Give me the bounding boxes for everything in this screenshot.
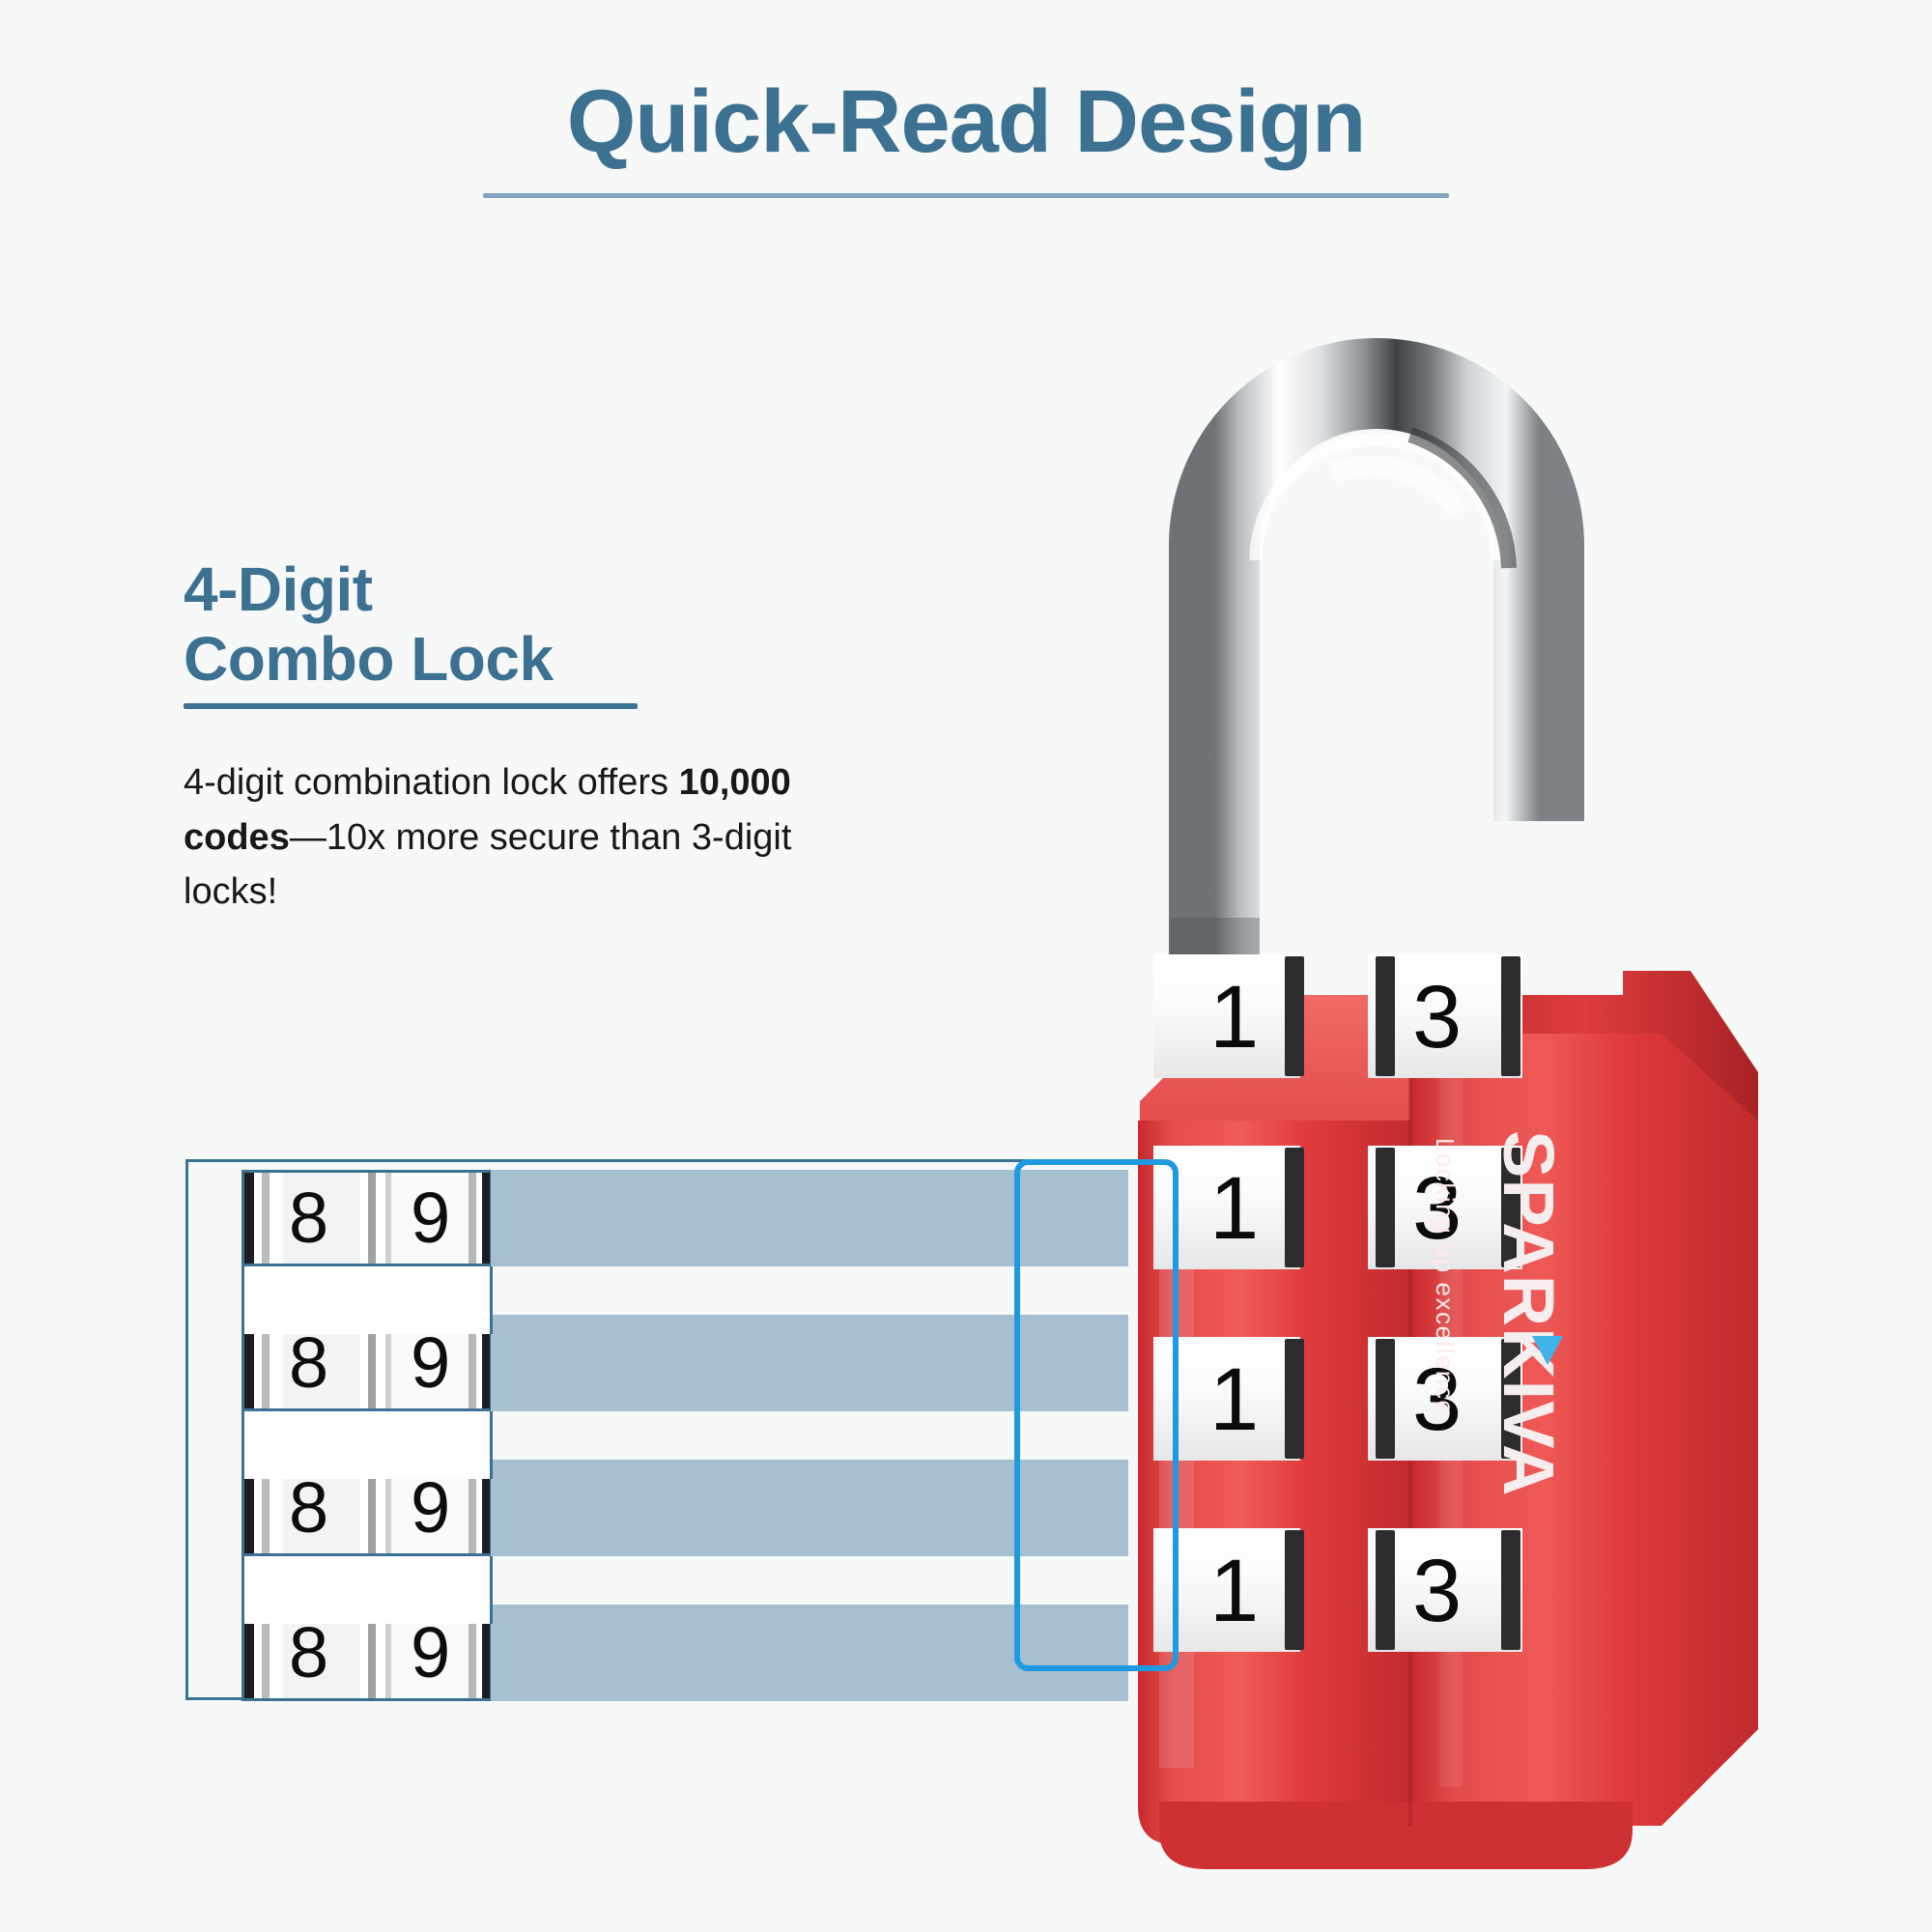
dial-digit-left-3: 1 [1209,1355,1259,1444]
callout-spacer [241,1411,493,1479]
callout-spacer [241,1266,493,1334]
dial-digit-left-1: 1 [1209,973,1259,1062]
brand-tagline: Locking up excellence [1430,1138,1460,1415]
callout-spacer [241,1556,493,1624]
feature-description-part-1: 4-digit combination lock offers [184,762,679,803]
dial-gap-3 [1300,1329,1368,1469]
magnified-digit-left: 8 [289,1327,328,1399]
dial-window-4[interactable]: 1 3 [1140,1520,1526,1661]
dial-tick-right-1 [1376,956,1395,1076]
magnified-digit-right: 9 [411,1617,450,1689]
feature-heading-line-1: 4-Digit [184,555,860,625]
dial-gap-2 [1300,1138,1368,1278]
magnified-digit-left: 8 [289,1182,328,1254]
page-title: Quick-Read Design [567,75,1366,169]
feature-heading-line-2: Combo Lock [184,625,860,695]
feature-underline [184,703,638,709]
feature-block: 4-Digit Combo Lock 4-digit combination l… [184,555,860,919]
brand-triangle-icon [1532,1336,1563,1365]
dial-window-2[interactable]: 1 3 [1140,1138,1526,1278]
dial-digit-right-1: 3 [1412,973,1462,1062]
magnified-dial-strip: 89 [241,1170,493,1266]
dial-gap-4 [1300,1520,1368,1661]
dial-digit-left-4: 1 [1209,1547,1259,1635]
dial-window-group: 1 3 1 3 1 [1140,947,1526,1662]
dial-gap-1 [1300,947,1368,1087]
magnified-digit-left: 8 [289,1617,328,1689]
magnified-digit-left: 8 [289,1472,328,1544]
dial-tick-edge-1 [1501,956,1520,1076]
dial-digit-left-2: 1 [1209,1164,1259,1253]
dial-tick-right-4 [1376,1530,1395,1650]
feature-description: 4-digit combination lock offers 10,000 c… [184,755,860,919]
title-block: Quick-Read Design [0,75,1932,169]
magnified-digit-right: 9 [411,1472,450,1544]
padlock-product-image: 1 3 1 3 1 [1024,319,1797,1884]
dial-tick-right-3 [1376,1339,1395,1459]
brand-name: SPARKIVA [1488,1130,1570,1496]
dial-window-1[interactable]: 1 3 [1140,947,1526,1087]
dial-tick-right-2 [1376,1148,1395,1267]
magnified-digit-right: 9 [411,1182,450,1254]
title-underline [483,193,1449,198]
dial-tick-edge-4 [1501,1530,1520,1650]
dial-window-3[interactable]: 1 3 [1140,1329,1526,1469]
brand-mark: SPARKIVA Locking up excellence [1488,1130,1604,1546]
dial-digit-right-4: 3 [1412,1547,1462,1635]
magnified-digit-right: 9 [411,1327,450,1399]
magnifier-callout-box: 89898989 [185,1159,1074,1700]
marketing-image-canvas: Quick-Read Design 4-Digit Combo Lock 4-d… [0,0,1932,1932]
